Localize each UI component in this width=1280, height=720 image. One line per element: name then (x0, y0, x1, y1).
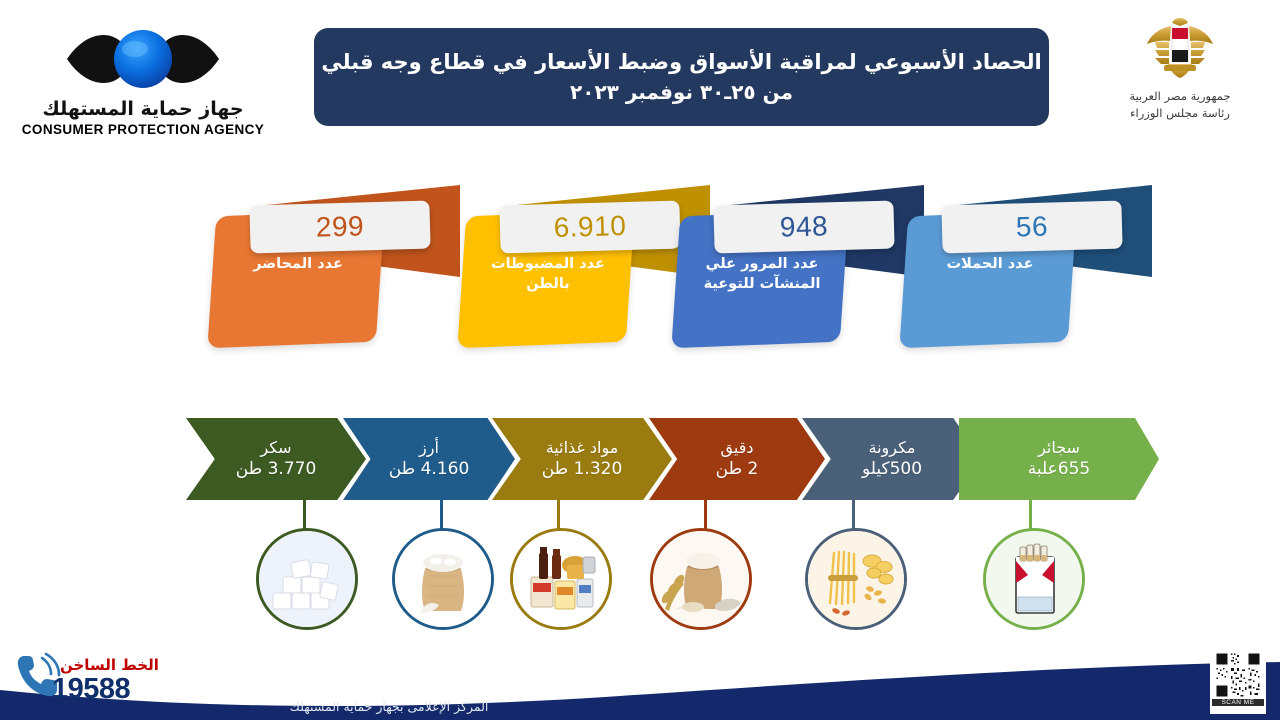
commodity-chevron-pasta: مكرونة 500كيلو (802, 418, 982, 500)
kpi-card-reports: عدد المحاضر 299 (212, 185, 462, 360)
sugar-cubes-icon (256, 528, 358, 630)
kpi-value: 6.910 (553, 210, 626, 244)
kpi-value-chip: 6.910 (499, 200, 680, 253)
commodity-chevron-foodstuffs: مواد غذائية 1.320 طن (492, 418, 672, 500)
connector-stem (303, 498, 306, 530)
pasta-icon (805, 528, 907, 630)
connector-stem (852, 498, 855, 530)
kpi-label: عدد المضبوطات بالطن (468, 255, 628, 294)
rice-sack-icon (392, 528, 494, 630)
commodity-chevron-flour: دقيق 2 طن (649, 418, 825, 500)
qr-code-icon[interactable] (1215, 652, 1261, 698)
title-line-2: من ٢٥ـ٣٠ نوفمبر ٢٠٢٣ (570, 78, 793, 107)
eye-logo-icon (57, 24, 229, 94)
egypt-eagle-emblem-icon (1141, 14, 1219, 86)
kpi-value: 948 (779, 210, 828, 243)
kpi-label: عدد الحملات (910, 255, 1070, 275)
commodity-name: أرز (419, 438, 439, 458)
hotline-number[interactable]: 19588 (52, 673, 130, 706)
kpi-card-awareness-visits: عدد المرور علي المنشآت للتوعية 948 (676, 185, 926, 360)
kpi-value: 299 (315, 210, 364, 243)
connector-stem (1029, 498, 1032, 530)
hotline-label: الخط الساخن (60, 656, 159, 674)
logo-english-name: CONSUMER PROTECTION AGENCY (18, 122, 268, 137)
commodity-image-row (0, 528, 1280, 638)
commodity-name: سجائر (1038, 438, 1080, 458)
commodity-name: مكرونة (869, 438, 916, 458)
commodity-quantity: 500كيلو (862, 459, 922, 480)
kpi-value-chip: 56 (941, 200, 1122, 253)
emblem-line-2: رئاسة مجلس الوزراء (1096, 106, 1264, 120)
commodity-quantity: 2 طن (716, 459, 759, 480)
commodity-chevron-cigarettes: سجائر 655علبة (959, 418, 1159, 500)
qr-code-block[interactable]: SCAN ME (1210, 650, 1266, 714)
kpi-card-row: عدد المحاضر 299 عدد المضبوطات بالطن 6.91… (0, 185, 1280, 360)
commodity-quantity: 655علبة (1028, 459, 1090, 480)
commodity-chevron-sugar: سكر 3.770 طن (186, 418, 366, 500)
page-title: الحصاد الأسبوعي لمراقبة الأسواق وضبط الأ… (314, 28, 1049, 126)
commodity-chevron-row: سكر 3.770 طن أرز 4.160 طن مواد غذائية 1.… (0, 418, 1280, 510)
emblem-line-1: جمهورية مصر العربية (1096, 89, 1264, 103)
kpi-value-chip: 299 (249, 200, 430, 253)
commodity-quantity: 3.770 طن (236, 459, 317, 480)
kpi-card-campaigns: عدد الحملات 56 (904, 185, 1154, 360)
connector-stem (440, 498, 443, 530)
commodity-name: مواد غذائية (546, 438, 619, 458)
connector-stem (704, 498, 707, 530)
cigarette-pack-icon (983, 528, 1085, 630)
flour-wheat-icon (650, 528, 752, 630)
commodity-quantity: 4.160 طن (389, 459, 470, 480)
commodity-chevron-rice: أرز 4.160 طن (343, 418, 515, 500)
logo-arabic-name: جهاز حماية المستهلك (18, 98, 268, 120)
footer-center-text: المركز الإعلامى بجهاز حماية المستهلك (224, 699, 554, 714)
footer: الخط الساخن 19588 المركز الإعلامى بجهاز … (0, 642, 1280, 720)
connector-stem (557, 498, 560, 530)
consumer-protection-agency-logo: جهاز حماية المستهلك CONSUMER PROTECTION … (18, 24, 268, 137)
government-emblem: جمهورية مصر العربية رئاسة مجلس الوزراء (1096, 14, 1264, 120)
kpi-label: عدد المرور علي المنشآت للتوعية (682, 255, 842, 294)
kpi-value: 56 (1015, 211, 1048, 244)
scan-me-caption: SCAN ME (1212, 699, 1264, 706)
commodity-quantity: 1.320 طن (542, 459, 623, 480)
title-line-1: الحصاد الأسبوعي لمراقبة الأسواق وضبط الأ… (321, 47, 1041, 77)
hotline-block: الخط الساخن 19588 (10, 646, 220, 704)
kpi-value-chip: 948 (713, 200, 894, 253)
commodity-name: سكر (260, 438, 291, 458)
infographic-canvas: جهاز حماية المستهلك CONSUMER PROTECTION … (0, 0, 1280, 720)
commodity-name: دقيق (721, 438, 754, 458)
kpi-label: عدد المحاضر (218, 255, 378, 275)
groceries-icon (510, 528, 612, 630)
